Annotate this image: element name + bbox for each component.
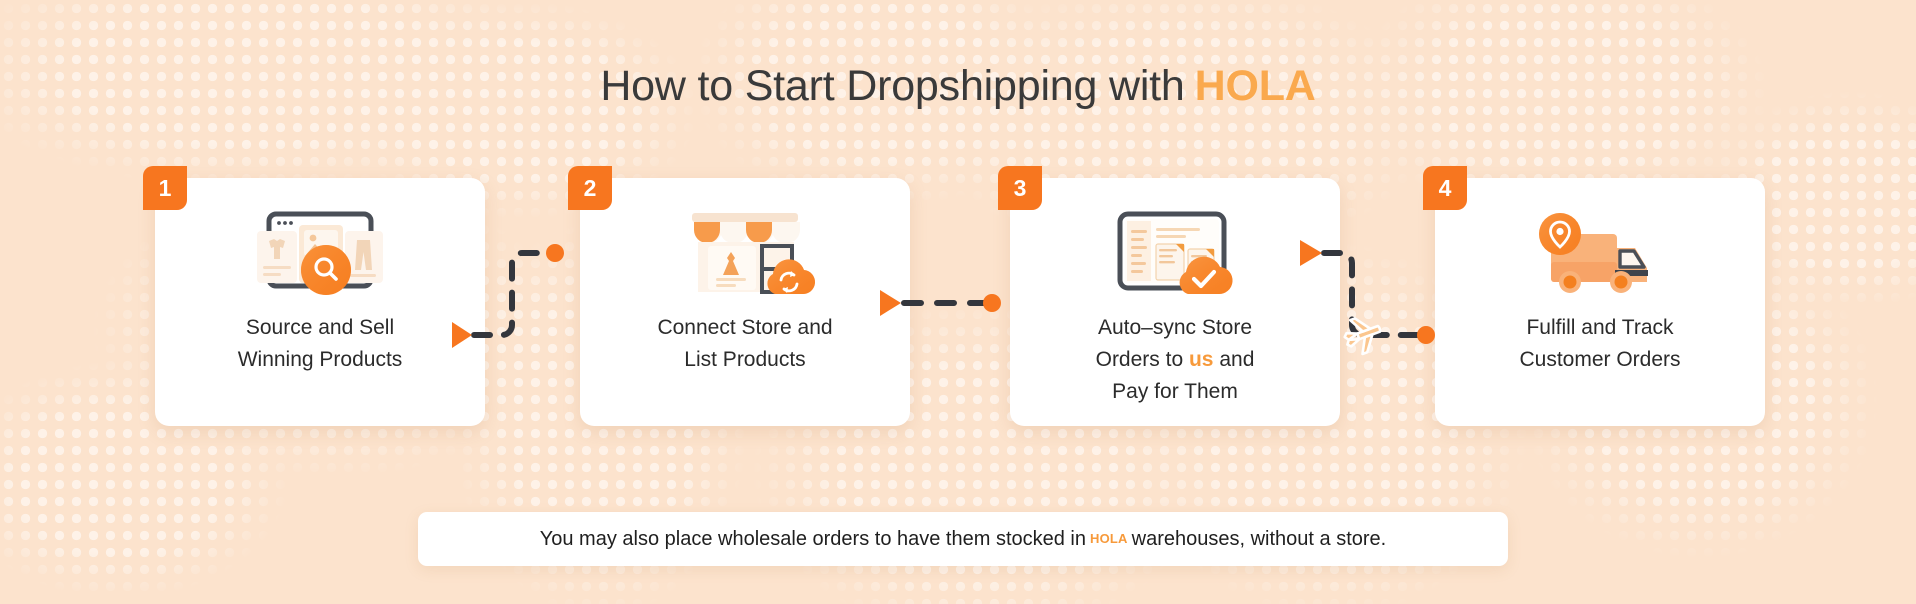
airplane-icon [1340, 312, 1386, 358]
page-title: How to Start Dropshipping withHOLA [0, 62, 1916, 111]
monitor-cloud-check-icon [1010, 200, 1340, 312]
banner-brand-hola: HOLA [1090, 531, 1128, 546]
step-card-3-label: Auto–sync Store Orders to us and Pay for… [1010, 312, 1340, 408]
wholesale-note-banner: You may also place wholesale orders to h… [418, 512, 1508, 566]
step-card-4-label: Fulfill and Track Customer Orders [1435, 312, 1765, 376]
step-card-1-label-line2: Winning Products [169, 344, 471, 376]
step-card-3-label-line2-post: and [1214, 348, 1255, 371]
banner-text-after: warehouses, without a store. [1132, 528, 1387, 551]
storefront-cloud-sync-icon [580, 200, 910, 312]
step-card-3-label-highlight: us [1189, 348, 1214, 371]
step-card-2-label-line1: Connect Store and [594, 312, 896, 344]
browser-product-search-icon [155, 200, 485, 312]
step-card-2[interactable]: 2 [580, 178, 910, 426]
connector-end-dot [1417, 326, 1435, 344]
step-card-1-label-line1: Source and Sell [169, 312, 471, 344]
connector-end-dot [546, 244, 564, 262]
banner-text-before: You may also place wholesale orders to h… [540, 528, 1086, 551]
step-card-3[interactable]: 3 [1010, 178, 1340, 426]
step-card-3-label-line2-pre: Orders to [1096, 348, 1189, 371]
step-card-3-label-line3: Pay for Them [1024, 376, 1326, 408]
connector-end-dot [983, 294, 1001, 312]
step-card-2-label-line2: List Products [594, 344, 896, 376]
step-card-4[interactable]: 4 Fu [1435, 178, 1765, 426]
step-card-3-label-line2: Orders to us and [1024, 344, 1326, 376]
page-title-main: How to Start Dropshipping with [600, 62, 1184, 110]
step-card-1-label: Source and Sell Winning Products [155, 312, 485, 376]
step-card-4-label-line2: Customer Orders [1449, 344, 1751, 376]
delivery-truck-location-icon [1435, 200, 1765, 312]
step-card-3-label-line1: Auto–sync Store [1024, 312, 1326, 344]
step-card-4-label-line1: Fulfill and Track [1449, 312, 1751, 344]
step-card-1[interactable]: 1 [155, 178, 485, 426]
brand-name-hola: HOLA [1195, 62, 1316, 110]
step-card-2-label: Connect Store and List Products [580, 312, 910, 376]
